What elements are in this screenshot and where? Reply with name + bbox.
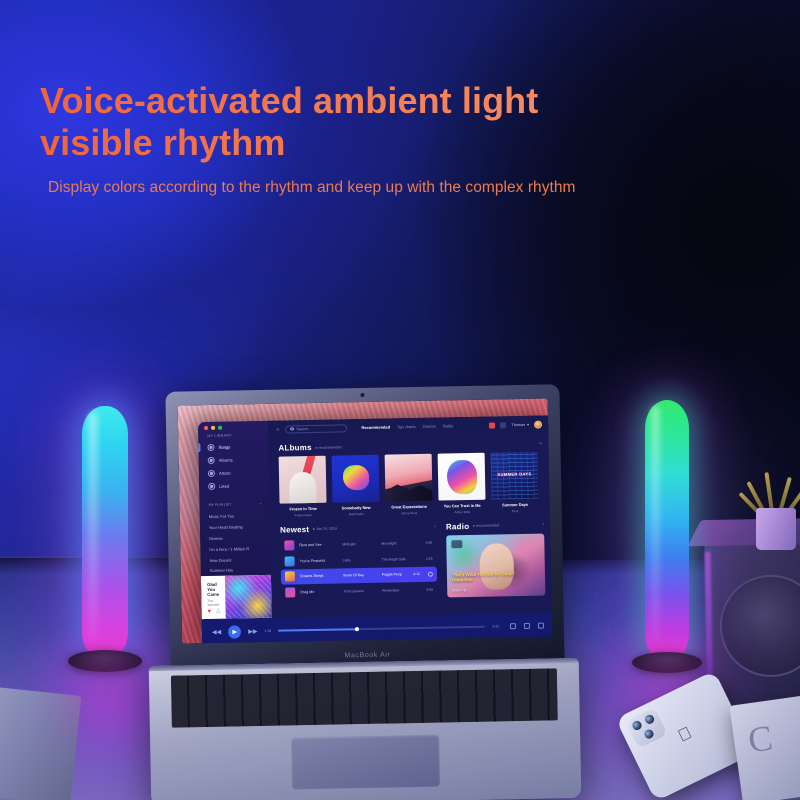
headline-line-1: Voice-activated ambient light (40, 80, 538, 121)
player-total: 3:42 (492, 624, 499, 628)
now-playing-artist: The Wanted (207, 599, 221, 607)
radio-card-artwork (480, 544, 514, 591)
radio-title: Radio (446, 521, 469, 530)
track-thumbnail (285, 572, 295, 582)
light-bar-tube (82, 406, 128, 660)
track-thumbnail (285, 588, 295, 598)
radio-section: Radio ▸ recommended › That's What You Ge… (446, 518, 545, 598)
now-playing-card: Glad You Came The Wanted ♥ △ (201, 575, 272, 619)
track-album: The Bright Side (382, 557, 415, 562)
rgb-light-bar-left (82, 406, 128, 660)
minimize-icon[interactable] (211, 426, 215, 430)
previous-icon[interactable]: ◀◀ (212, 628, 221, 635)
radio-subtitle: ▸ recommended (473, 523, 499, 527)
album-name: Summer Days (492, 502, 539, 508)
album-art: SUMMER DAYS (491, 452, 539, 500)
album-artist: Niall Nodin (333, 511, 380, 516)
zoom-icon[interactable] (218, 426, 222, 430)
album-artist: Arthur Mills (439, 509, 486, 514)
tab-recommended[interactable]: Recommended (361, 424, 390, 430)
sidebar-playlists-label: MY PLAYLIST (209, 503, 232, 507)
album-artist: Kruz (492, 508, 539, 513)
potted-plant (742, 470, 800, 550)
newest-title: Newest (280, 525, 309, 535)
album-art (279, 456, 327, 504)
repeat-icon[interactable] (524, 623, 530, 629)
sidebar-item-albums[interactable]: Albums (199, 453, 269, 467)
track-more-icon[interactable] (428, 572, 433, 577)
newest-more-arrow[interactable]: › (434, 524, 436, 530)
favorite-icon[interactable]: ♥ (208, 609, 212, 615)
track-album: Moonlight (381, 541, 414, 546)
sidebar-item-liked[interactable]: Liked (199, 479, 269, 493)
app-sidebar: MY LIBRARY Songs Albums A (198, 421, 272, 619)
sidebar-item-label: Liked (219, 484, 229, 489)
light-bar-tube (645, 400, 689, 662)
album-art (438, 453, 486, 501)
light-bar-highlight (651, 406, 660, 642)
laptop-keyboard[interactable] (171, 668, 558, 727)
now-playing-info: Glad You Came The Wanted ♥ △ (201, 576, 226, 619)
nav-arrows[interactable]: ‹› (276, 426, 279, 432)
shuffle-icon[interactable] (510, 623, 516, 629)
table-row[interactable]: Crowns Tempt Some Of Day Fragile People … (281, 567, 437, 584)
heart-icon (208, 483, 215, 490)
albums-subtitle: ▸ recommended (316, 445, 342, 449)
albums-section-header: ALbums ▸ recommended ‹› (278, 439, 542, 453)
player-elapsed: 1:18 (264, 629, 271, 633)
sidebar-item-label: Songs (218, 445, 230, 450)
promo-subtitle: Display colors according to the rhythm a… (48, 179, 740, 197)
player-progress-bar[interactable] (278, 626, 485, 632)
mic-icon (208, 470, 215, 477)
notifications-icon[interactable] (489, 422, 495, 428)
track-artist: Josh Larsson (343, 589, 377, 594)
track-duration: 3:05 (420, 588, 433, 592)
radio-card-subtitle: Boys Trip (452, 588, 466, 592)
newest-section-header: Newest ▸ Jan 24, 2019 › (280, 522, 436, 534)
track-name: Crowns Tempt (300, 574, 338, 579)
sidebar-item-songs[interactable]: Songs (198, 440, 268, 454)
now-playing-actions: ♥ △ (208, 609, 222, 615)
user-name: Thomas (511, 422, 525, 426)
search-icon (290, 427, 293, 430)
window-traffic-lights[interactable] (204, 426, 222, 430)
player-right-actions (510, 623, 544, 630)
promo-image: Voice-activated ambient light visible rh… (0, 0, 800, 800)
page-title: Voice-activated ambient light visible rh… (40, 80, 740, 165)
next-icon[interactable]: ▶▶ (248, 628, 257, 635)
album-name: Somebody New (333, 505, 380, 511)
newest-subtitle: ▸ Jan 24, 2019 (313, 527, 337, 531)
topbar-tabs: Recommended Top charts Genres Radio (361, 423, 453, 430)
app-body: MY LIBRARY Songs Albums A (198, 415, 552, 619)
track-artist: Midnight (342, 541, 376, 546)
track-artist: Some Of Day (343, 573, 377, 578)
album-card[interactable]: Great Expectations Jenny Ross (385, 454, 433, 515)
app-main: ‹› Search... Recommended Top charts Genr… (268, 415, 552, 617)
light-bar-highlight (88, 412, 98, 640)
album-card[interactable]: Frozen in Time Kayla Green (279, 456, 327, 517)
promo-headline-block: Voice-activated ambient light visible rh… (40, 80, 740, 197)
track-album: Remember (382, 588, 415, 593)
search-input[interactable]: Search... (285, 424, 347, 433)
track-duration: 2:55 (420, 556, 433, 560)
albums-carousel-arrows[interactable]: ‹› (539, 440, 542, 446)
desk-object-right: C (729, 695, 800, 800)
album-name: You Can Trust in Me (439, 503, 486, 509)
table-row[interactable]: You're Peaceful Letta The Bright Side 2:… (281, 551, 437, 568)
now-playing-title: Glad You Came (207, 582, 221, 597)
album-art (332, 455, 380, 503)
tab-genres[interactable]: Genres (423, 424, 436, 429)
laptop-base (149, 658, 582, 800)
track-name: You're Peaceful (300, 558, 338, 563)
queue-icon[interactable] (538, 623, 544, 629)
laptop-lid: MY LIBRARY Songs Albums A (165, 384, 564, 670)
speaker-driver-cone (719, 574, 800, 678)
track-thumbnail (284, 540, 294, 550)
table-row[interactable]: Rest and See Midnight Moonlight 3:56 (280, 535, 436, 552)
track-duration: 4:11 (407, 572, 420, 576)
album-name: Frozen in Time (280, 506, 327, 512)
phone-camera-module (626, 708, 668, 749)
radio-badge-icon (451, 540, 462, 548)
sidebar-item-label: Artists (219, 471, 231, 476)
track-name: Rest and See (299, 542, 337, 547)
album-card[interactable]: SUMMER DAYS Summer Days Kruz (491, 452, 539, 513)
apple-logo-icon:  (673, 723, 697, 748)
headline-line-2: visible rhythm (40, 122, 740, 164)
newest-section: Newest ▸ Jan 24, 2019 › Rest and See Mid… (280, 520, 437, 601)
tab-top-charts[interactable]: Top charts (397, 424, 416, 429)
albums-title: ALbums (278, 443, 311, 453)
tab-radio[interactable]: Radio (443, 423, 454, 428)
chevron-down-icon: ▾ (527, 422, 529, 427)
sidebar-item-artists[interactable]: Artists (199, 466, 269, 480)
plant-leaf (764, 472, 774, 512)
app-content: ALbums ▸ recommended ‹› Frozen in Time K… (268, 432, 552, 617)
plant-pot (756, 508, 796, 550)
albums-carousel: Frozen in Time Kayla Green Somebody New … (279, 452, 544, 518)
radio-section-header: Radio ▸ recommended › (446, 520, 544, 531)
sidebar-item-label: Albums (219, 458, 233, 463)
now-playing-cover-art (225, 575, 272, 619)
player-progress-knob[interactable] (355, 627, 359, 631)
disc-icon (208, 457, 215, 464)
player-progress-fill (278, 628, 357, 632)
search-placeholder: Search... (296, 427, 310, 431)
track-thumbnail (285, 556, 295, 566)
lower-sections: Newest ▸ Jan 24, 2019 › Rest and See Mid… (280, 518, 545, 602)
track-artist: Letta (343, 557, 377, 562)
webcam-icon (360, 393, 364, 397)
radio-more-arrow[interactable]: › (542, 522, 544, 528)
play-icon[interactable]: ▶ (228, 625, 241, 638)
track-album: Fragile People (382, 573, 402, 577)
share-icon[interactable]: △ (216, 609, 220, 614)
album-artist: Jenny Ross (386, 510, 433, 515)
table-row[interactable]: Drag Me Josh Larsson Remember 3:05 (281, 583, 437, 600)
note-icon (207, 444, 214, 451)
settings-gear-icon[interactable] (500, 422, 506, 428)
desk-object-glyph: C (746, 716, 776, 761)
radio-featured-card[interactable]: That's What You Get for Gettin' Outta Be… (446, 533, 545, 597)
radio-card-title: That's What You Get for Gettin' Outta Be… (452, 571, 517, 583)
rgb-light-bar-right (645, 400, 689, 662)
avatar[interactable] (534, 420, 542, 428)
music-app-window: MY LIBRARY Songs Albums A (198, 415, 552, 643)
close-icon[interactable] (204, 426, 208, 430)
user-menu[interactable]: Thomas ▾ (511, 422, 529, 427)
laptop-screen: MY LIBRARY Songs Albums A (178, 398, 553, 643)
laptop-trackpad[interactable] (291, 735, 440, 790)
album-artist: Kayla Green (280, 512, 327, 517)
add-playlist-icon[interactable]: + (259, 502, 261, 506)
album-art (385, 454, 433, 502)
album-name: Great Expectations (386, 504, 433, 510)
album-art-overlay-text: SUMMER DAYS (497, 471, 531, 477)
topbar-actions: Thomas ▾ (489, 420, 542, 429)
track-duration: 3:56 (419, 540, 432, 544)
track-name: Drag Me (300, 590, 338, 595)
album-card[interactable]: You Can Trust in Me Arthur Mills (438, 453, 486, 514)
album-card[interactable]: Somebody New Niall Nodin (332, 455, 380, 516)
